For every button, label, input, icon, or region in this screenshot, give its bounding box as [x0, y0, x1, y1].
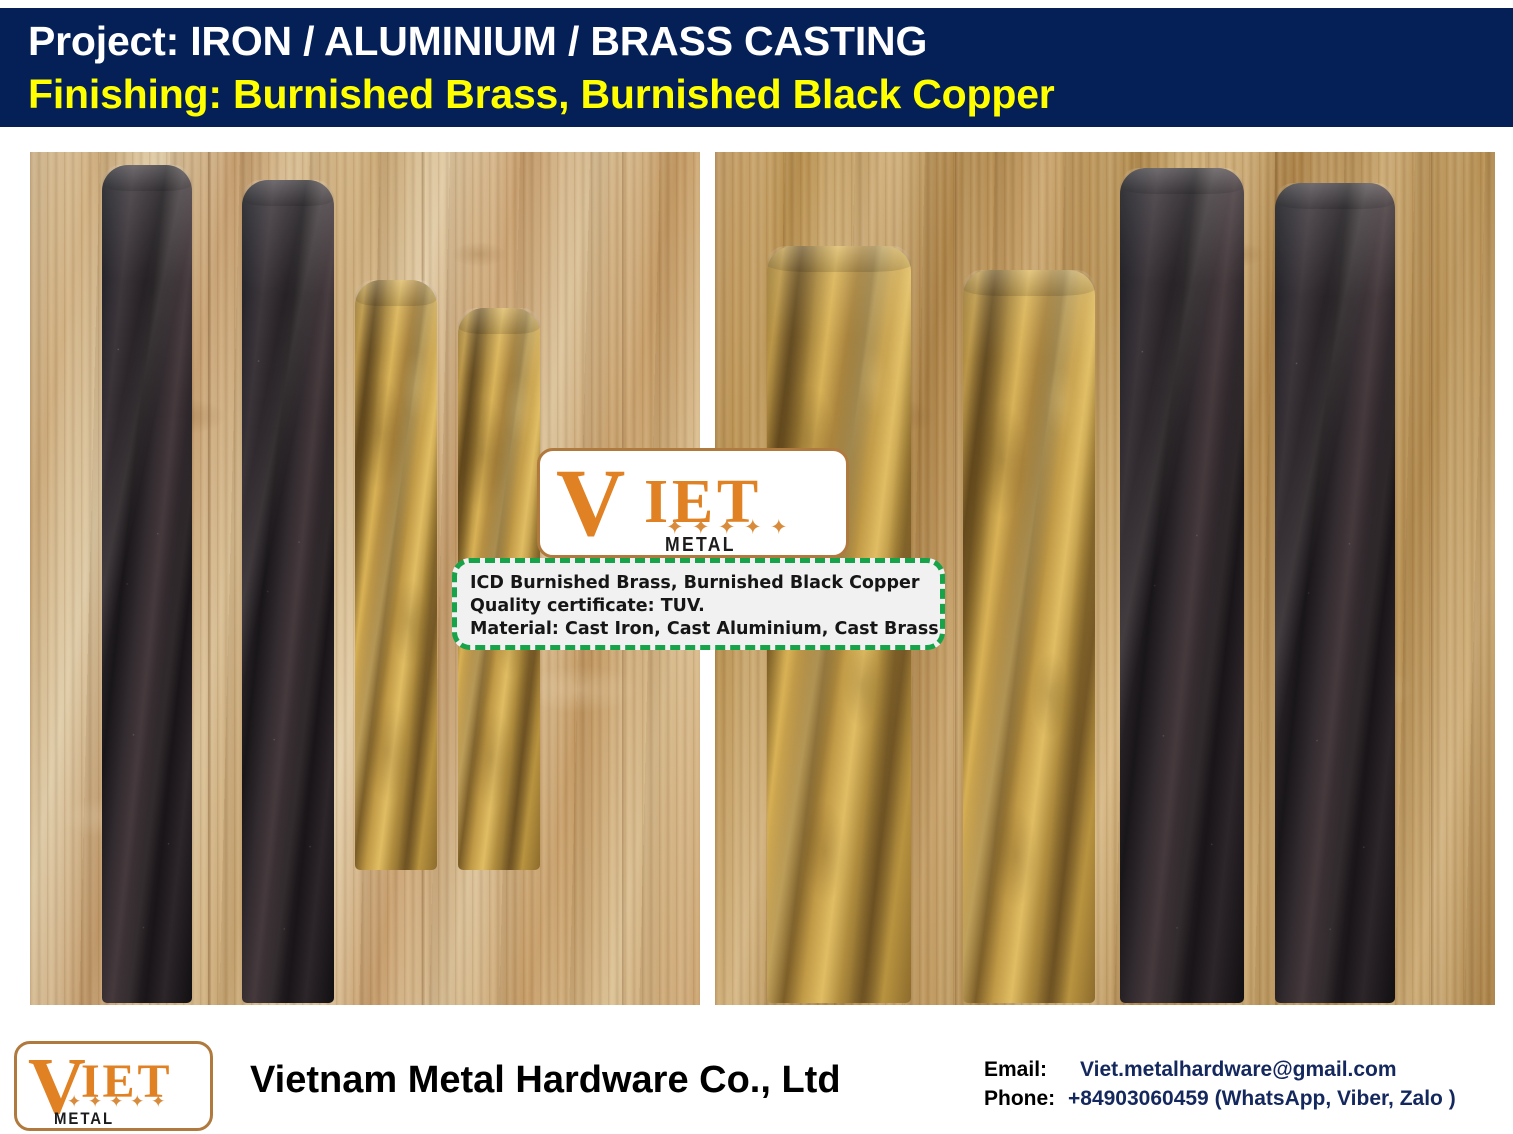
contact-info: Email:Viet.metalhardware@gmail.com Phone…	[984, 1055, 1456, 1113]
phone-value[interactable]: +84903060459 (WhatsApp, Viber, Zalo )	[1068, 1087, 1456, 1110]
header-banner: Project: IRON / ALUMINIUM / BRASS CASTIN…	[0, 8, 1513, 127]
finishing-subtitle: Finishing: Burnished Brass, Burnished Bl…	[28, 68, 1513, 121]
product-info-callout: ICD Burnished Brass, Burnished Black Cop…	[452, 558, 945, 650]
callout-material-line: Material: Cast Iron, Cast Aluminium, Cas…	[470, 618, 940, 641]
brass-handle	[355, 280, 437, 870]
black-copper-handle	[1275, 183, 1395, 1003]
callout-quality-line: Quality certificate: TUV.	[470, 595, 940, 618]
black-copper-handle	[242, 180, 334, 1003]
brass-handle	[963, 270, 1095, 1003]
logo-tagline: METAL HARDWARE	[665, 535, 824, 558]
phone-label: Phone:	[984, 1084, 1068, 1113]
plank-seam	[955, 152, 958, 1005]
plank-seam	[208, 152, 211, 1005]
project-title: Project: IRON / ALUMINIUM / BRASS CASTIN…	[28, 15, 1513, 68]
email-row: Email:Viet.metalhardware@gmail.com	[984, 1055, 1456, 1084]
black-copper-handle	[1120, 168, 1244, 1003]
plank-seam	[1431, 152, 1434, 1005]
black-copper-handle	[102, 165, 192, 1003]
email-label: Email:	[984, 1055, 1080, 1084]
footer-logo: V IET ✦✦✦✦✦ METAL HARDWARE	[14, 1041, 213, 1131]
logo-letter-v: V	[556, 455, 625, 551]
logo-tagline: METAL HARDWARE	[54, 1110, 191, 1131]
phone-row: Phone:+84903060459 (WhatsApp, Viber, Zal…	[984, 1084, 1456, 1113]
watermark-logo: V IET ✦✦✦✦✦ METAL HARDWARE	[537, 448, 849, 558]
callout-finish-line: ICD Burnished Brass, Burnished Black Cop…	[470, 572, 940, 595]
email-value[interactable]: Viet.metalhardware@gmail.com	[1080, 1058, 1397, 1081]
company-name: Vietnam Metal Hardware Co., Ltd	[250, 1058, 841, 1102]
